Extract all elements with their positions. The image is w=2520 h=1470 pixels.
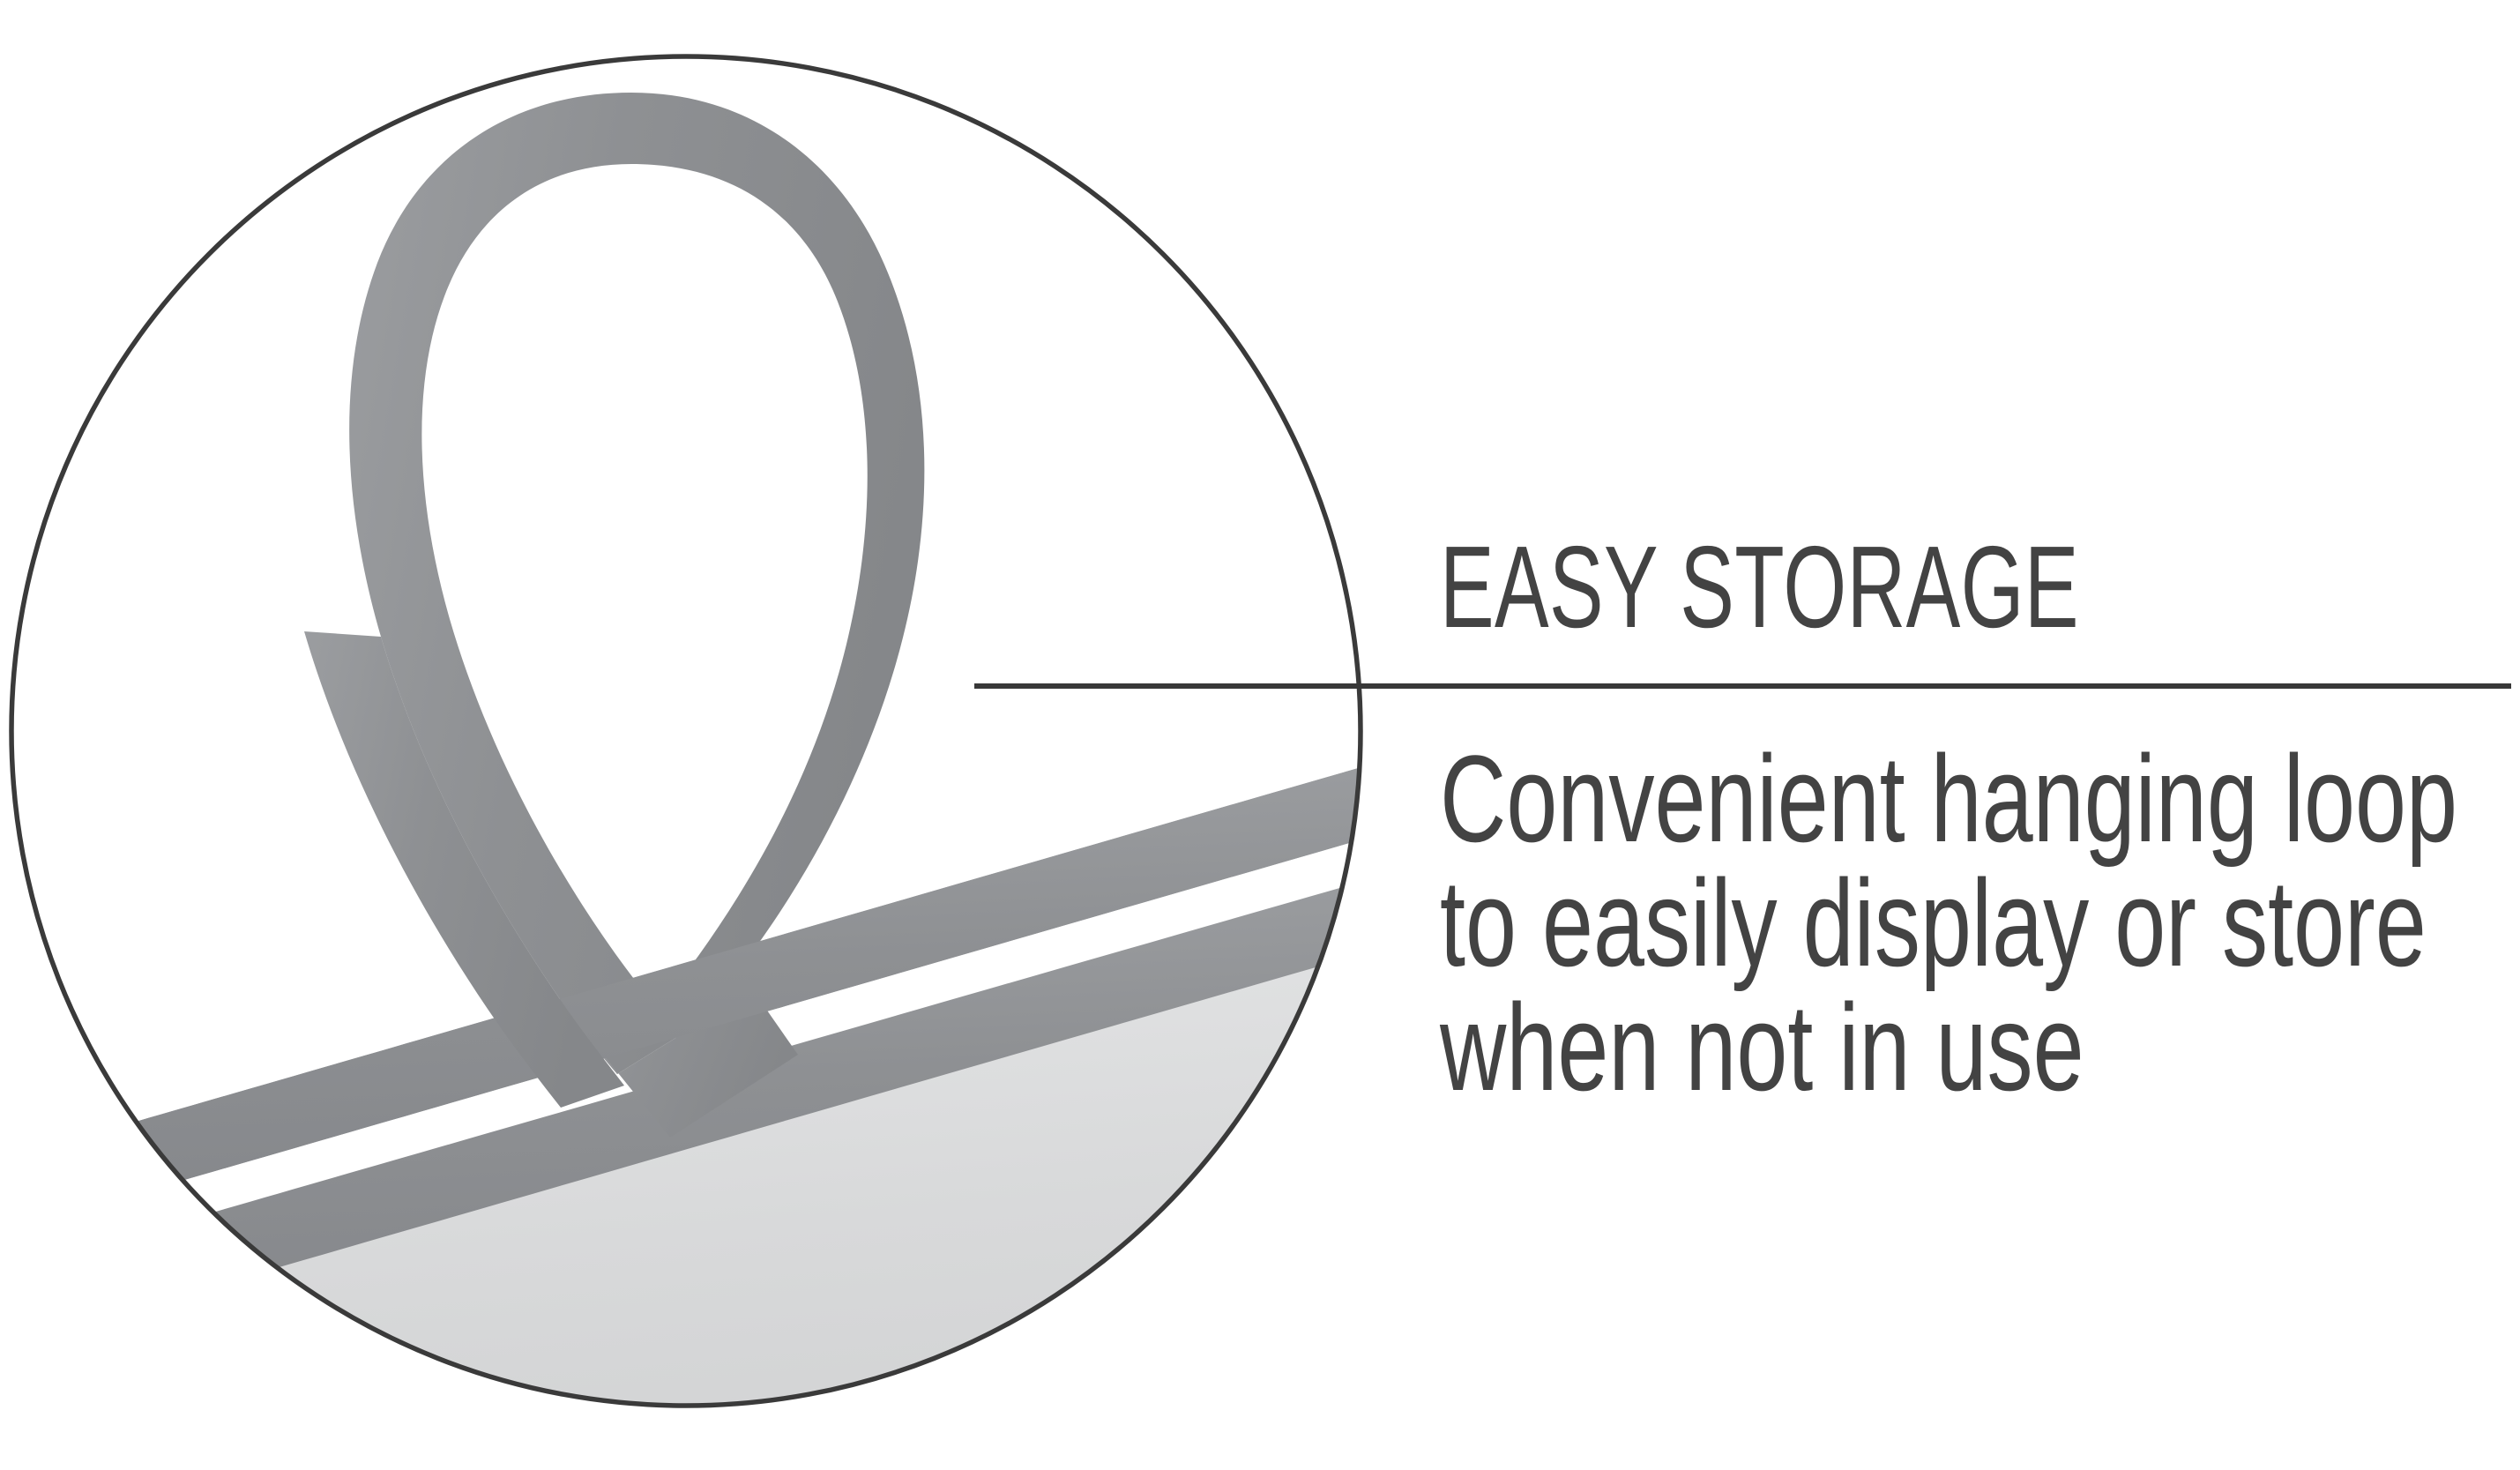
callout-text-block: EASY STORAGE Convenient hanging loop to … <box>1440 529 2520 645</box>
illustration-svg <box>0 0 1384 1466</box>
page-title: EASY STORAGE <box>1440 529 2196 645</box>
leader-line <box>974 683 2511 689</box>
callout-body-line-1: Convenient hanging loop <box>1440 736 2520 861</box>
callout-body-line-2: to easily display or store <box>1440 861 2520 985</box>
feature-callout-page: EASY STORAGE Convenient hanging loop to … <box>0 0 2520 1466</box>
callout-body-line-3: when not in use <box>1440 985 2520 1109</box>
callout-description: Convenient hanging loop to easily displa… <box>1440 736 2520 1109</box>
hanging-loop-illustration <box>0 0 1384 1466</box>
